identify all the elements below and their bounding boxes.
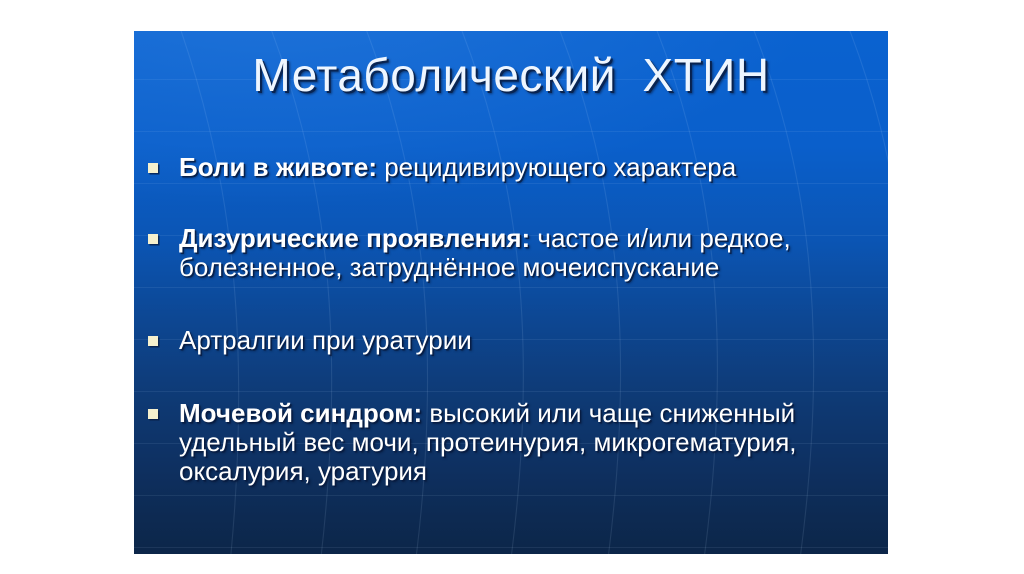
list-item: Дизурические проявления: частое и/или ре… [140,224,882,282]
square-bullet-icon [148,336,158,346]
bullet-lead: Боли в животе: [179,152,377,182]
bullet-lead: Мочевой синдром: [179,398,422,428]
square-bullet-icon [148,163,158,173]
slide-title: Метаболический ХТИН [134,46,888,104]
square-bullet-icon [148,234,158,244]
bullet-text: Артралгии при уратурии [179,325,472,355]
presentation-slide: Метаболический ХТИН Боли в животе: рецид… [134,31,888,554]
slide-body: Боли в животе: рецидивирующего характера… [140,153,882,486]
bullet-text: рецидивирующего характера [377,152,736,182]
screenshot-canvas: Метаболический ХТИН Боли в животе: рецид… [0,0,1024,574]
list-item: Артралгии при уратурии [140,326,882,355]
square-bullet-icon [148,409,158,419]
list-item: Мочевой синдром: высокий или чаще снижен… [140,399,882,486]
list-item: Боли в животе: рецидивирующего характера [140,153,882,182]
bullet-lead: Дизурические проявления: [179,223,530,253]
